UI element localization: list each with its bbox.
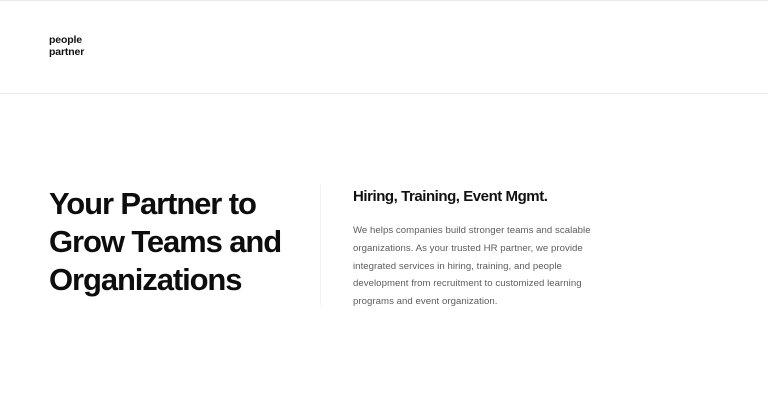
- brand-logo-line-1: people: [49, 35, 84, 47]
- page-title: Your Partner to Grow Teams and Organizat…: [49, 185, 320, 299]
- hero-left-column: Your Partner to Grow Teams and Organizat…: [49, 185, 320, 299]
- page-root: people partner Your Partner to Grow Team…: [0, 0, 768, 415]
- site-header: people partner: [0, 1, 768, 94]
- hero-description: We helps companies build stronger teams …: [353, 222, 593, 311]
- brand-logo[interactable]: people partner: [49, 35, 84, 58]
- brand-logo-line-2: partner: [49, 47, 84, 59]
- hero-right-column: Hiring, Training, Event Mgmt. We helps c…: [353, 185, 719, 311]
- hero-section: Your Partner to Grow Teams and Organizat…: [0, 94, 768, 394]
- hero-subtitle: Hiring, Training, Event Mgmt.: [353, 187, 719, 207]
- hero-column-divider: [320, 185, 321, 305]
- hero-content: Your Partner to Grow Teams and Organizat…: [49, 185, 719, 311]
